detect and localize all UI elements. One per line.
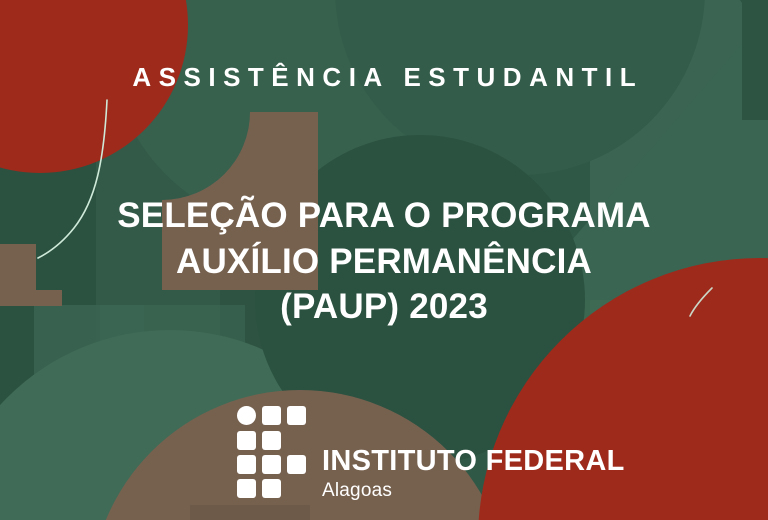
logo-subtitle: Alagoas bbox=[322, 481, 625, 500]
logo-cell-r1c3 bbox=[287, 406, 306, 425]
logo-title: INSTITUTO FEDERAL bbox=[322, 447, 625, 476]
logo-cell-r2c2 bbox=[262, 431, 281, 450]
logo-cell-r4c2 bbox=[262, 479, 281, 498]
logo-cell-r3c2 bbox=[262, 455, 281, 474]
banner-eyebrow: ASSISTÊNCIA ESTUDANTIL bbox=[0, 64, 768, 90]
logo-cell-r1c2 bbox=[262, 406, 281, 425]
logo-cell-r1c1-circle bbox=[237, 406, 256, 425]
logo-cell-r3c3 bbox=[287, 455, 306, 474]
instituto-federal-grid-mark-icon bbox=[237, 406, 309, 498]
instituto-federal-logo: INSTITUTO FEDERAL Alagoas bbox=[237, 406, 625, 500]
logo-cell-r3c1 bbox=[237, 455, 256, 474]
banner-headline: SELEÇÃO PARA O PROGRAMA AUXÍLIO PERMANÊN… bbox=[0, 193, 768, 330]
logo-cell-r4c1 bbox=[237, 479, 256, 498]
assistencia-estudantil-banner: ASSISTÊNCIA ESTUDANTIL SELEÇÃO PARA O PR… bbox=[0, 0, 768, 520]
headline-line-3: (PAUP) 2023 bbox=[0, 284, 768, 330]
logo-cell-r2c1 bbox=[237, 431, 256, 450]
headline-line-1: SELEÇÃO PARA O PROGRAMA bbox=[0, 193, 768, 239]
logo-wordmark: INSTITUTO FEDERAL Alagoas bbox=[322, 406, 625, 500]
headline-line-2: AUXÍLIO PERMANÊNCIA bbox=[0, 239, 768, 285]
